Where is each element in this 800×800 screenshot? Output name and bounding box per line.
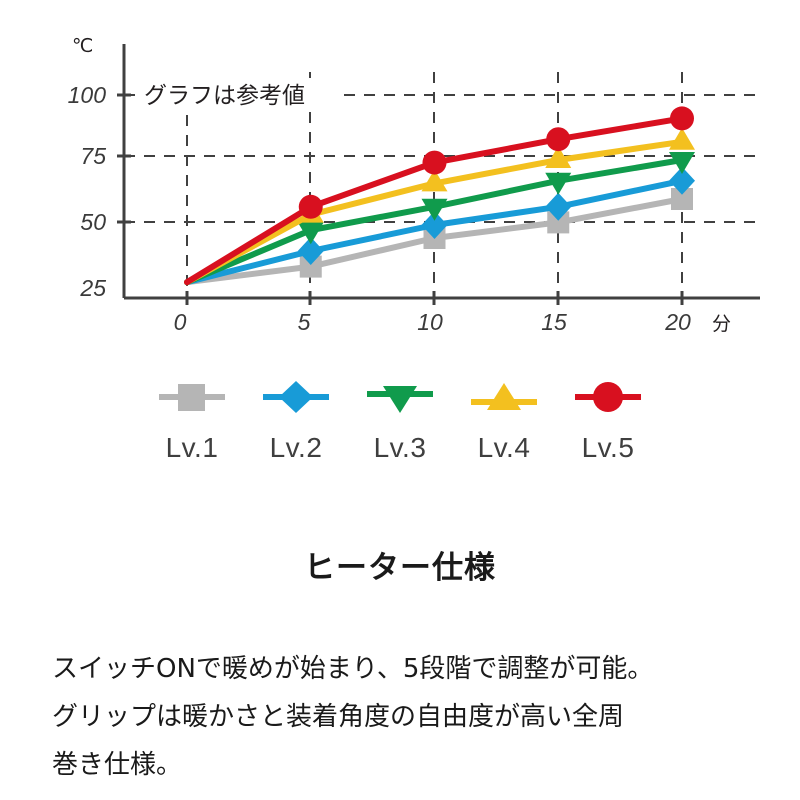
- chart-canvas: ℃ 100 75 50 25 0 5 10 15 20 分 グラフは参考値: [0, 0, 800, 360]
- chart-annotation: グラフは参考値: [144, 82, 305, 108]
- legend-item-lv1[interactable]: Lv.1: [140, 380, 244, 464]
- spec-body-line-3: 巻き仕様。: [52, 741, 750, 789]
- legend-item-lv5[interactable]: Lv.5: [556, 380, 660, 464]
- legend-label-lv4: Lv.4: [478, 432, 531, 464]
- legend-item-lv3[interactable]: Lv.3: [348, 380, 452, 464]
- legend-item-lv2[interactable]: Lv.2: [244, 380, 348, 464]
- spec-body-line-1: スイッチONで暖めが始まり、5段階で調整が可能。: [52, 645, 750, 693]
- legend-marker-triangle-down-icon: [365, 380, 435, 414]
- legend-marker-triangle-up-icon: [469, 380, 539, 414]
- data-point-circle: [299, 195, 323, 219]
- legend-item-lv4[interactable]: Lv.4: [452, 380, 556, 464]
- heater-temperature-chart: ℃ 100 75 50 25 0 5 10 15 20 分 グラフは参考値: [0, 0, 800, 360]
- data-point-triangle-up: [669, 128, 695, 150]
- y-tick-50: 50: [80, 209, 106, 235]
- spec-body-line-2: グリップは暖かさと装着角度の自由度が高い全周: [52, 693, 750, 741]
- chart-legend: Lv.1 Lv.2 Lv.3 Lv.4 Lv.5: [0, 380, 800, 490]
- y-axis-unit-label: ℃: [72, 36, 93, 57]
- legend-marker-diamond-icon: [261, 380, 331, 414]
- x-axis-unit-label: 分: [712, 313, 731, 335]
- legend-label-lv5: Lv.5: [582, 432, 635, 464]
- data-point-circle: [670, 106, 694, 130]
- y-tick-25: 25: [79, 275, 106, 301]
- y-tick-100: 100: [68, 82, 107, 108]
- heater-spec-section: ヒーター仕様 スイッチONで暖めが始まり、5段階で調整が可能。 グリップは暖かさ…: [0, 520, 800, 789]
- data-point-circle: [423, 151, 447, 175]
- spec-heading: ヒーター仕様: [0, 520, 800, 587]
- legend-label-lv2: Lv.2: [270, 432, 323, 464]
- data-series-layer: [187, 106, 695, 282]
- legend-marker-circle-icon: [573, 380, 643, 414]
- x-tick-15: 15: [541, 309, 567, 335]
- x-tick-10: 10: [417, 309, 443, 335]
- x-tick-5: 5: [298, 309, 311, 335]
- data-point-circle: [546, 127, 570, 151]
- spec-body: スイッチONで暖めが始まり、5段階で調整が可能。 グリップは暖かさと装着角度の自…: [0, 587, 800, 789]
- legend-marker-square-icon: [157, 380, 227, 414]
- legend-label-lv3: Lv.3: [374, 432, 427, 464]
- x-tick-20: 20: [664, 309, 691, 335]
- legend-label-lv1: Lv.1: [166, 432, 219, 464]
- x-tick-0: 0: [174, 309, 187, 335]
- y-tick-75: 75: [80, 143, 106, 169]
